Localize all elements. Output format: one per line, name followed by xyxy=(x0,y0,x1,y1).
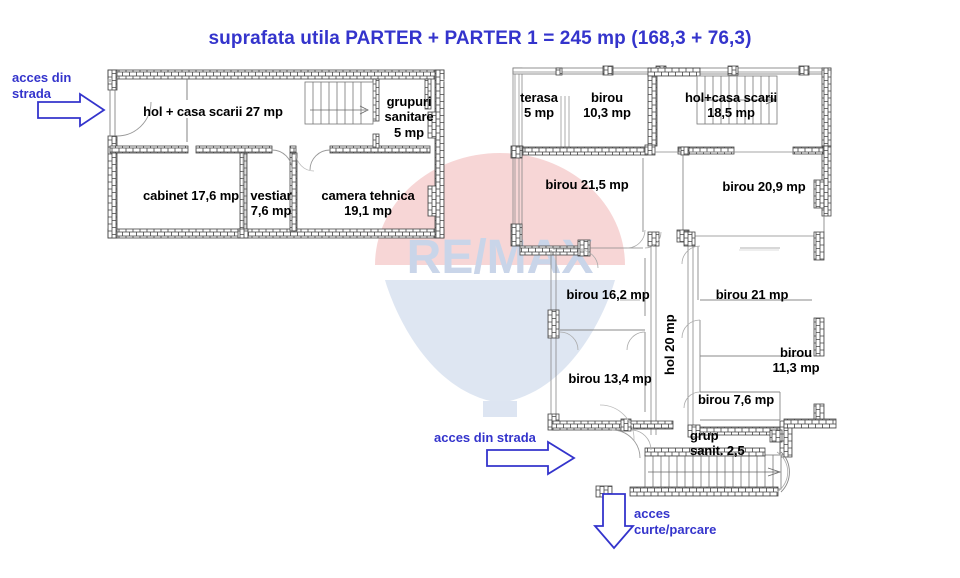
annotation-acces-din-strada-left: acces din strada xyxy=(12,70,71,103)
room-label-vestiar: vestiar 7,6 mp xyxy=(245,188,297,219)
room-label-birou-21: birou 21 mp xyxy=(706,287,798,302)
room-label-birou-13-4: birou 13,4 mp xyxy=(562,371,658,386)
room-label-grup-sanitar: grup sanit. 2,5 xyxy=(690,428,774,459)
room-label-birou-11-3: birou 11,3 mp xyxy=(760,345,832,376)
room-label-camera-tehnica: camera tehnica 19,1 mp xyxy=(310,188,426,219)
room-label-hol-casa-scarii-18-5: hol+casa scarii 18,5 mp xyxy=(670,90,792,121)
acces-curte-parcare-arrow xyxy=(595,494,633,548)
room-label-terasa: terasa 5 mp xyxy=(511,90,567,121)
room-label-hol-casa-scarii: hol + casa scarii 27 mp xyxy=(138,104,288,119)
annotation-acces-curte-parcare: acces curte/parcare xyxy=(634,506,716,539)
room-label-hol-20: hol 20 mp xyxy=(662,314,677,375)
floorplan-drawing xyxy=(0,0,960,578)
floorplan-page: suprafata utila PARTER + PARTER 1 = 245 … xyxy=(0,0,960,578)
room-label-cabinet: cabinet 17,6 mp xyxy=(138,188,244,203)
room-label-birou-21-5: birou 21,5 mp xyxy=(522,177,652,192)
room-label-birou-7-6: birou 7,6 mp xyxy=(690,392,782,407)
room-label-birou-20-9: birou 20,9 mp xyxy=(705,179,823,194)
room-label-birou-16-2: birou 16,2 mp xyxy=(562,287,654,302)
acces-din-strada-bottom-arrow xyxy=(487,442,574,474)
room-label-grupuri-sanitare: grupuri sanitare 5 mp xyxy=(374,94,444,140)
annotation-acces-din-strada-bottom: acces din strada xyxy=(434,430,536,446)
room-label-birou-10-3: birou 10,3 mp xyxy=(576,90,638,121)
